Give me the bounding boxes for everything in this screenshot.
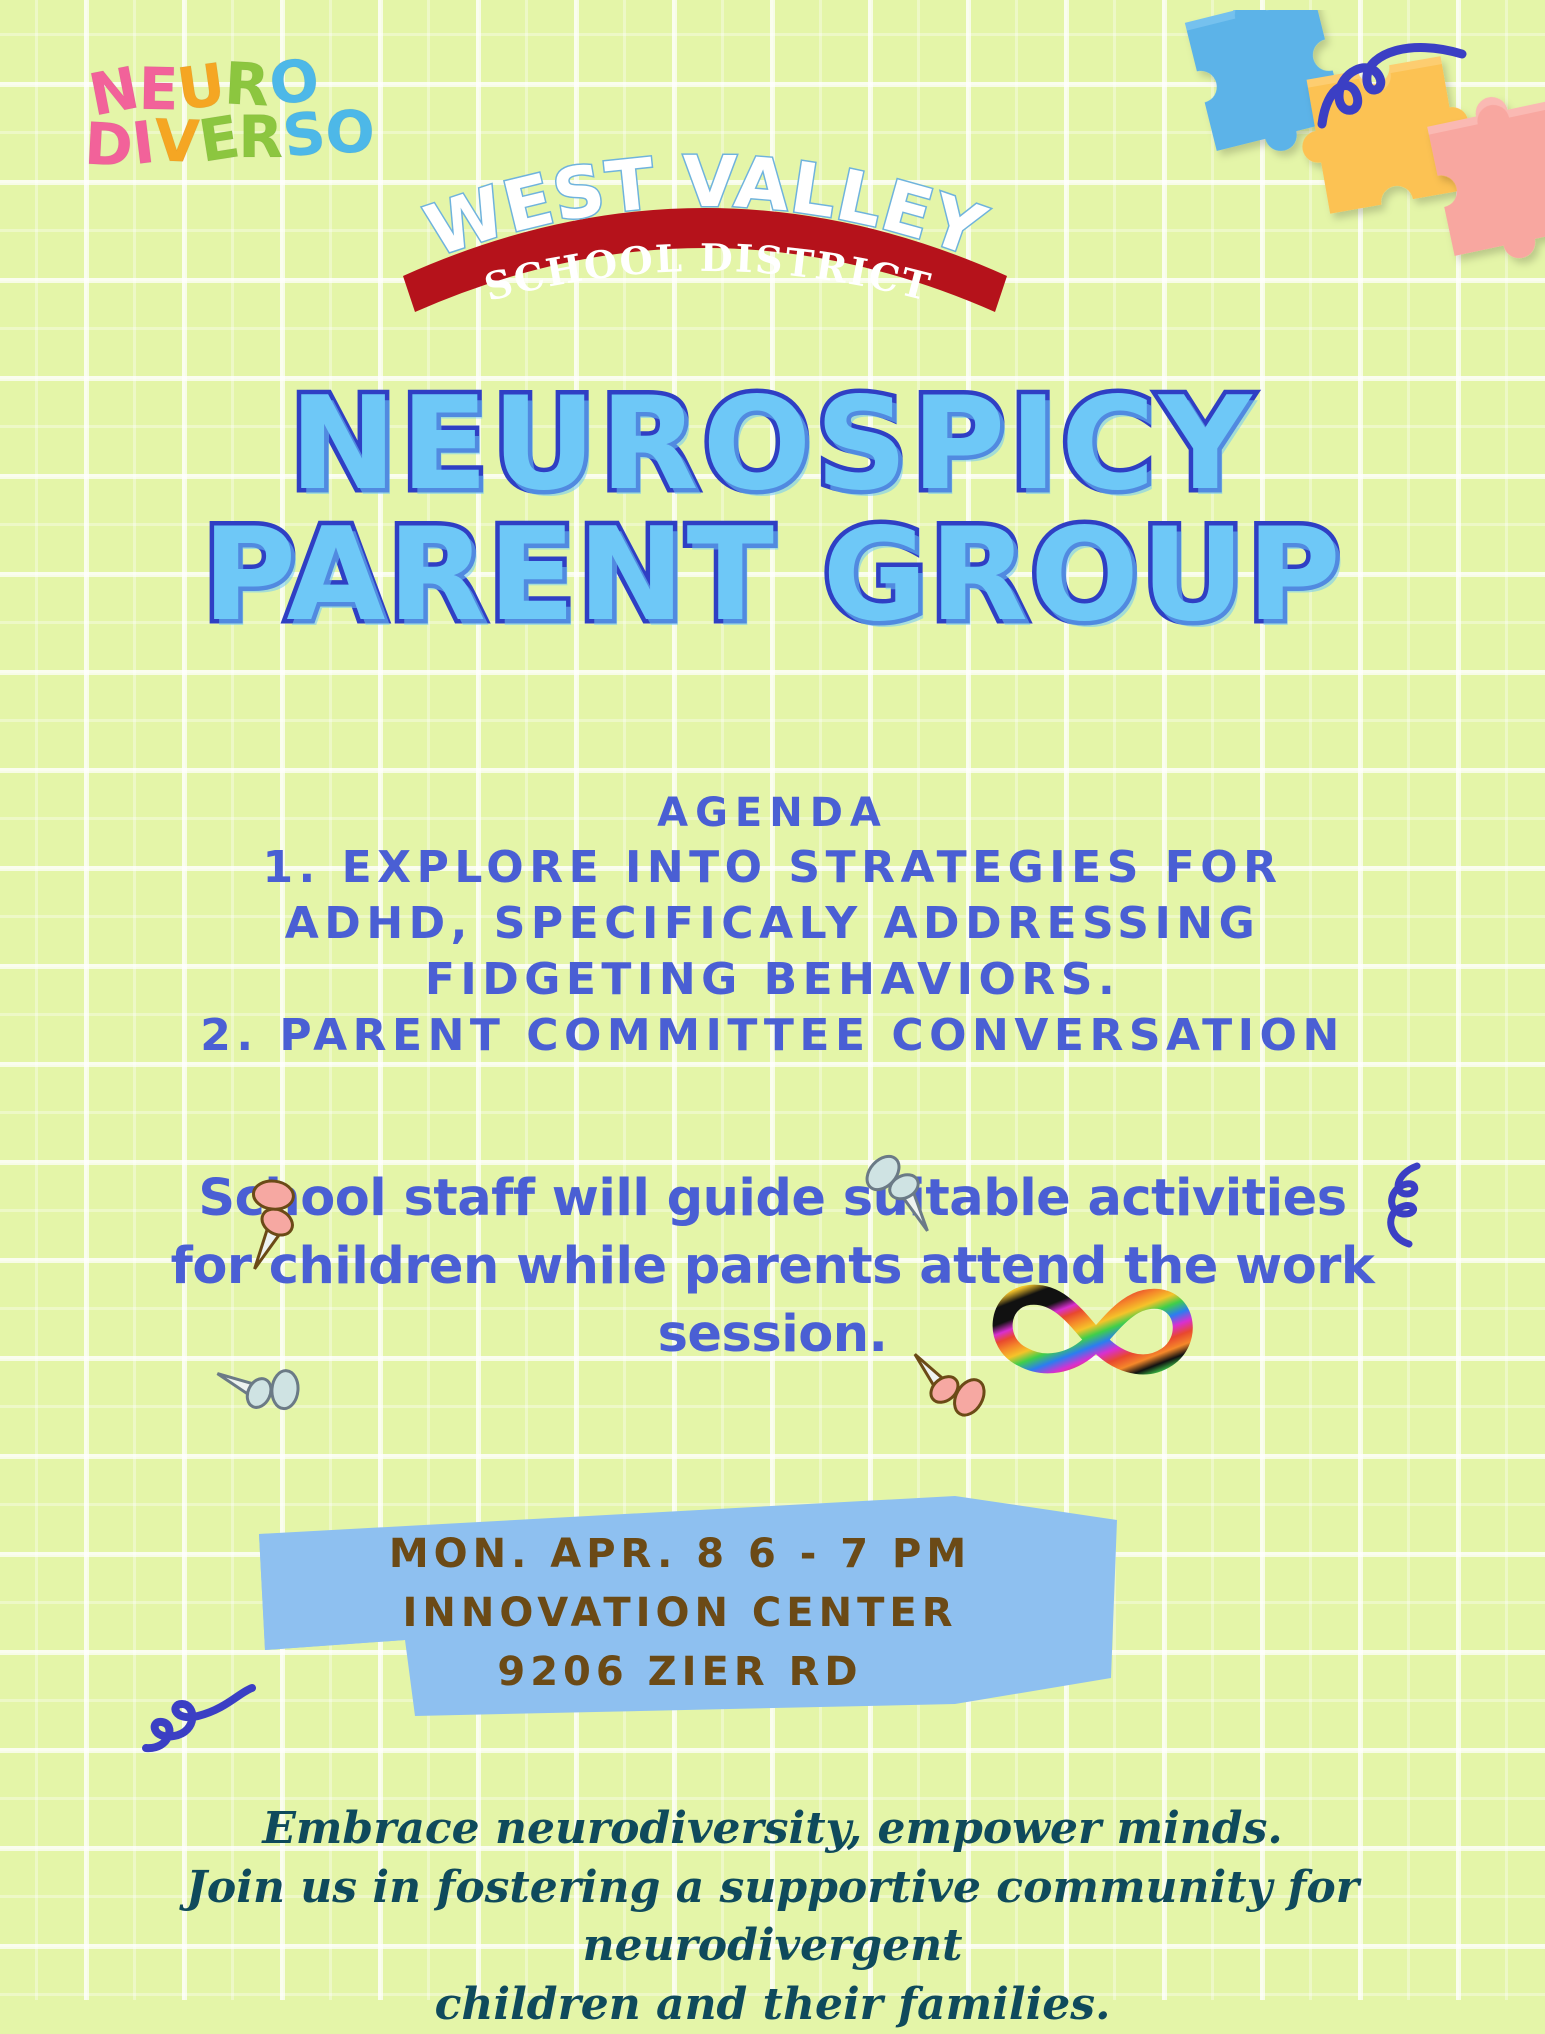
footer-line-1: Embrace neurodiversity, empower minds.: [60, 1800, 1485, 1859]
event-date-time: MON. APR. 8 6 - 7 PM: [300, 1525, 1060, 1584]
neurodiversity-infinity-icon: [985, 1265, 1200, 1400]
footer-tagline: Embrace neurodiversity, empower minds. J…: [60, 1800, 1485, 2034]
page-title: NEUROSPICY PARENT GROUP: [0, 380, 1545, 641]
paragraph-line-3: session.: [100, 1301, 1445, 1369]
pushpin-blue-top-right-icon: [865, 1145, 945, 1240]
title-line-1: NEUROSPICY: [0, 380, 1545, 511]
agenda-item-2: 2. PARENT COMMITTEE CONVERSATION: [40, 1008, 1505, 1064]
pushpin-pink-top-left-icon: [225, 1175, 315, 1275]
wordmark-letter: O: [325, 108, 375, 158]
footer-line-3: children and their families.: [60, 1976, 1485, 2034]
wordmark-letter: R: [239, 113, 284, 162]
event-details-text: MON. APR. 8 6 - 7 PM INNOVATION CENTER 9…: [300, 1525, 1060, 1703]
event-address: 9206 ZIER RD: [300, 1643, 1060, 1702]
squiggle-top-right-icon: [1317, 24, 1467, 134]
wordmark-letter: V: [153, 117, 200, 168]
agenda-item-1-cont-b: FIDGETING BEHAVIORS.: [40, 952, 1505, 1008]
agenda-section: AGENDA 1. EXPLORE INTO STRATEGIES FOR AD…: [40, 790, 1505, 1064]
pushpin-pink-bottom-right-icon: [895, 1340, 990, 1430]
agenda-item-1-cont-a: ADHD, SPECIFICALY ADDRESSING: [40, 896, 1505, 952]
agenda-heading: AGENDA: [40, 790, 1505, 836]
pushpin-blue-bottom-left-icon: [210, 1345, 300, 1435]
event-venue: INNOVATION CENTER: [300, 1584, 1060, 1643]
agenda-item-1: 1. EXPLORE INTO STRATEGIES FOR: [40, 840, 1505, 896]
wordmark-letter: D: [83, 120, 134, 172]
title-line-2: PARENT GROUP: [0, 511, 1545, 642]
footer-line-2: Join us in fostering a supportive commun…: [60, 1859, 1485, 1976]
wordmark-letter: E: [195, 113, 242, 168]
west-valley-school-district-logo: WEST VALLEY SCHOOL DISTRICT: [395, 148, 1015, 333]
squiggle-bottom-left-icon: [140, 1680, 260, 1760]
wordmark-letter: S: [280, 108, 328, 163]
neuro-diverso-wordmark: NEURO DIVERSO: [89, 51, 426, 208]
